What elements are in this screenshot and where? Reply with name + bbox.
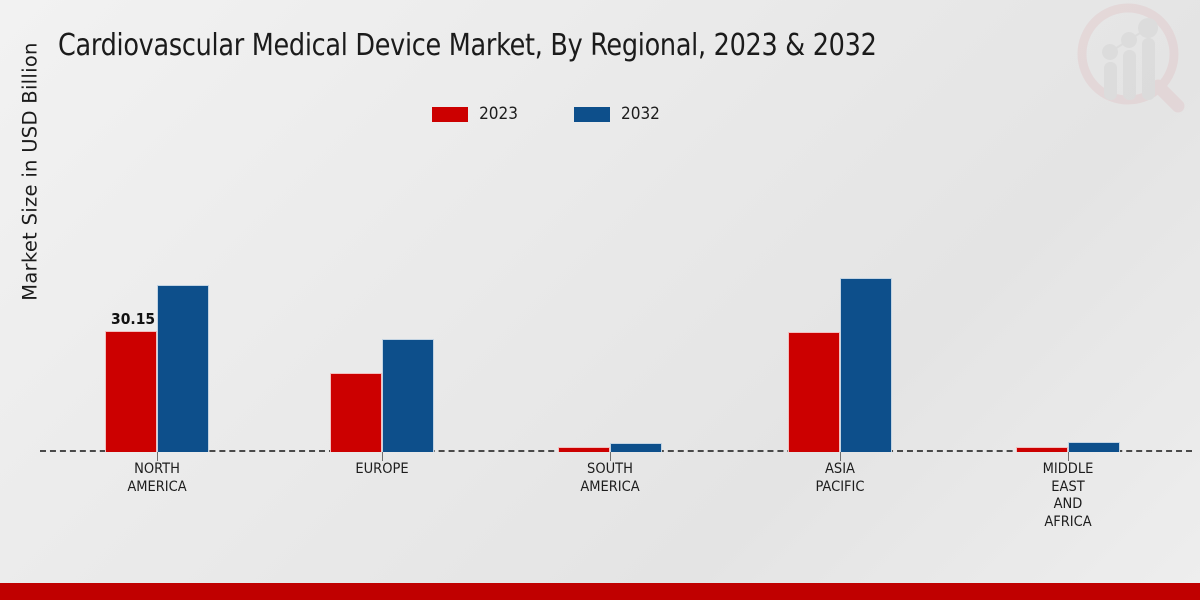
category-label-north-america: NORTH AMERICA	[72, 461, 242, 496]
category-label-europe: EUROPE	[297, 461, 467, 479]
category-line: ASIA	[755, 461, 925, 479]
legend-item-2023[interactable]: 2023	[432, 104, 518, 124]
bar-south-america-2023[interactable]	[558, 447, 610, 452]
x-tick-north-america	[157, 452, 158, 461]
y-axis-title: Market Size in USD Billion	[19, 0, 42, 372]
bars	[330, 150, 434, 452]
value-label-north-america-2023: 30.15	[111, 310, 155, 328]
legend-swatch-2032	[574, 107, 610, 122]
category-line: AMERICA	[525, 479, 695, 497]
bar-group-south-america: SOUTH AMERICA	[558, 150, 662, 452]
bars	[558, 150, 662, 452]
company-watermark-logo	[1074, 2, 1186, 120]
bars	[1016, 150, 1120, 452]
bar-north-america-2023[interactable]	[105, 331, 157, 452]
bar-group-europe: EUROPE	[330, 150, 434, 452]
legend-swatch-2023	[432, 107, 468, 122]
bar-asia-pacific-2023[interactable]	[788, 332, 840, 452]
chart-figure: Cardiovascular Medical Device Market, By…	[0, 0, 1200, 600]
category-line: AMERICA	[72, 479, 242, 497]
x-tick-europe	[382, 452, 383, 461]
x-tick-asia-pacific	[840, 452, 841, 461]
bar-group-north-america: 30.15 NORTH AMERICA	[105, 150, 209, 452]
bar-group-asia-pacific: ASIA PACIFIC	[788, 150, 892, 452]
category-line: AND	[983, 496, 1153, 514]
bar-europe-2032[interactable]	[382, 339, 434, 452]
bar-north-america-2032[interactable]	[157, 285, 209, 452]
plot-area: 30.15 NORTH AMERICA EUROPE	[40, 150, 1192, 452]
legend-item-2032[interactable]: 2032	[574, 104, 660, 124]
category-line: MIDDLE	[983, 461, 1153, 479]
x-tick-middle-east-and-africa	[1068, 452, 1069, 461]
category-line: AFRICA	[983, 514, 1153, 532]
chart-legend: 2023 2032	[0, 104, 1092, 124]
footer-accent-bar	[0, 583, 1200, 600]
legend-label-2023: 2023	[479, 104, 518, 124]
bars	[105, 150, 209, 452]
category-line: EAST	[983, 479, 1153, 497]
legend-label-2032: 2032	[621, 104, 660, 124]
bar-middle-east-and-africa-2023[interactable]	[1016, 447, 1068, 452]
category-line: PACIFIC	[755, 479, 925, 497]
category-line: EUROPE	[297, 461, 467, 479]
bars	[788, 150, 892, 452]
bar-group-middle-east-and-africa: MIDDLE EAST AND AFRICA	[1016, 150, 1120, 452]
category-label-south-america: SOUTH AMERICA	[525, 461, 695, 496]
bar-middle-east-and-africa-2032[interactable]	[1068, 442, 1120, 452]
category-line: NORTH	[72, 461, 242, 479]
x-tick-south-america	[610, 452, 611, 461]
bar-europe-2023[interactable]	[330, 373, 382, 452]
bar-south-america-2032[interactable]	[610, 443, 662, 452]
category-label-asia-pacific: ASIA PACIFIC	[755, 461, 925, 496]
bar-asia-pacific-2032[interactable]	[840, 278, 892, 452]
chart-title: Cardiovascular Medical Device Market, By…	[58, 28, 877, 63]
category-line: SOUTH	[525, 461, 695, 479]
category-label-middle-east-and-africa: MIDDLE EAST AND AFRICA	[983, 461, 1153, 531]
